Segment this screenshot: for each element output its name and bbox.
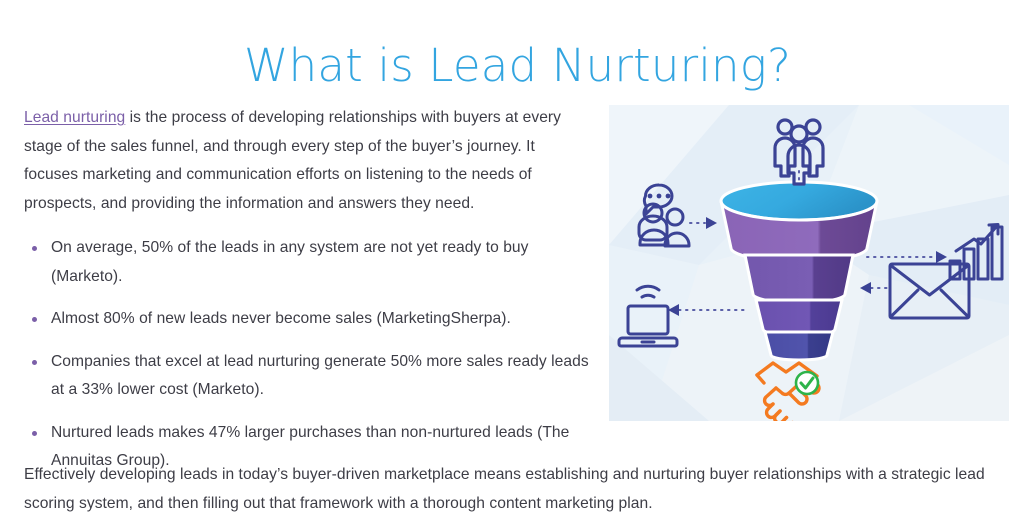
- list-item-label: Companies that excel at lead nurturing g…: [51, 353, 589, 399]
- statistics-list: On average, 50% of the leads in any syst…: [24, 234, 590, 476]
- funnel-band-4: [765, 332, 833, 360]
- intro-paragraph: Lead nurturing is the process of develop…: [24, 104, 590, 218]
- list-item: On average, 50% of the leads in any syst…: [24, 234, 590, 291]
- funnel-band-2: [745, 255, 853, 303]
- closing-paragraph: Effectively developing leads in today’s …: [24, 460, 1024, 518]
- list-item-label: Almost 80% of new leads never become sal…: [51, 310, 511, 327]
- funnel-diagram-svg: [609, 105, 1009, 421]
- lead-nurturing-page: What is Lead Nurturing? Lead nurturing i…: [0, 0, 1035, 521]
- list-item: Almost 80% of new leads never become sal…: [24, 305, 590, 334]
- funnel-diagram-image: [609, 105, 1009, 421]
- article-text-column: Lead nurturing is the process of develop…: [24, 104, 590, 476]
- bullet-dot-icon: [32, 431, 37, 436]
- page-title: What is Lead Nurturing?: [0, 38, 1035, 94]
- list-item: Companies that excel at lead nurturing g…: [24, 348, 590, 405]
- list-item-label: On average, 50% of the leads in any syst…: [51, 239, 529, 285]
- bullet-dot-icon: [32, 317, 37, 322]
- bullet-dot-icon: [32, 360, 37, 365]
- lead-nurturing-link[interactable]: Lead nurturing: [24, 109, 125, 126]
- bullet-dot-icon: [32, 246, 37, 251]
